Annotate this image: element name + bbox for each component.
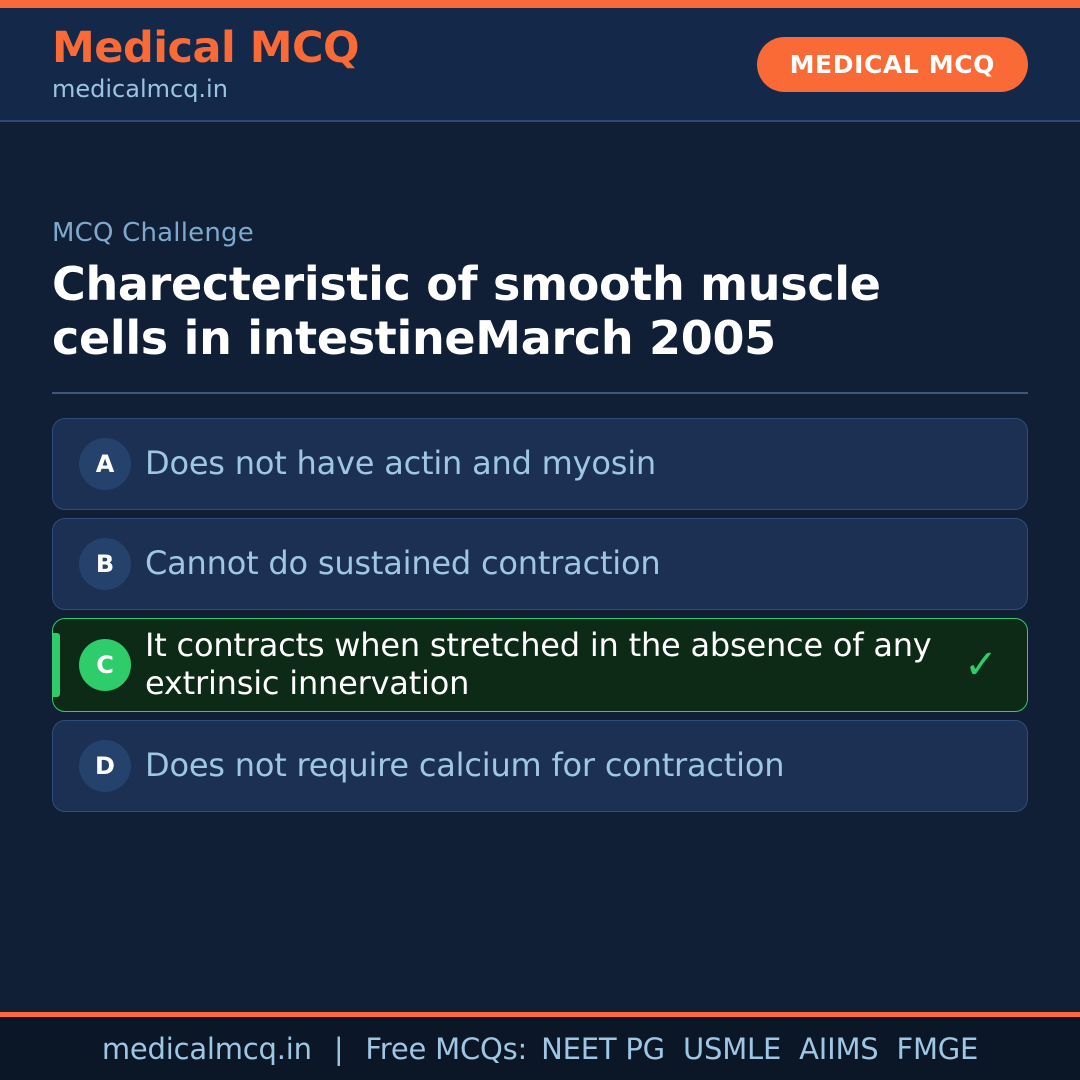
content-inner: MCQ Challenge Charecteristic of smooth m…: [52, 218, 1028, 811]
footer-bar: medicalmcq.in | Free MCQs: NEET PG USMLE…: [0, 1017, 1080, 1080]
footer-site[interactable]: medicalmcq.in: [102, 1032, 312, 1066]
correct-accent-bar: [53, 633, 60, 697]
option-row-c[interactable]: C It contracts when stretched in the abs…: [52, 618, 1028, 712]
option-row-a[interactable]: A Does not have actin and myosin: [52, 418, 1028, 510]
header-badge[interactable]: MEDICAL MCQ: [757, 37, 1028, 92]
question-title: Charecteristic of smooth muscle cells in…: [52, 258, 1012, 365]
footer-exam-neet-pg[interactable]: NEET PG: [541, 1032, 665, 1066]
kicker-label: MCQ Challenge: [52, 218, 1028, 248]
option-row-d[interactable]: D Does not require calcium for contracti…: [52, 720, 1028, 812]
footer-exam-list: NEET PG USMLE AIIMS FMGE: [541, 1032, 978, 1066]
brand-block: Medical MCQ medicalmcq.in: [52, 27, 359, 101]
check-icon: ✓: [959, 645, 1003, 685]
option-letter-badge: B: [79, 538, 131, 590]
options-list: A Does not have actin and myosin B Canno…: [52, 418, 1028, 812]
brand-subtitle: medicalmcq.in: [52, 77, 359, 101]
mcq-card: Medical MCQ medicalmcq.in MEDICAL MCQ MC…: [0, 0, 1080, 1080]
option-text: It contracts when stretched in the absen…: [145, 627, 959, 703]
header-bar: Medical MCQ medicalmcq.in MEDICAL MCQ: [0, 8, 1080, 122]
footer-exam-aiims[interactable]: AIIMS: [799, 1032, 878, 1066]
footer-exam-fmge[interactable]: FMGE: [896, 1032, 978, 1066]
title-divider: [52, 392, 1028, 394]
main-content: MCQ Challenge Charecteristic of smooth m…: [0, 122, 1080, 1012]
option-letter-badge: C: [79, 639, 131, 691]
footer-label: Free MCQs:: [365, 1032, 527, 1066]
option-text: Does not require calcium for contraction: [145, 747, 959, 785]
footer-separator: |: [326, 1032, 352, 1066]
option-letter-badge: D: [79, 740, 131, 792]
brand-title: Medical MCQ: [52, 27, 359, 70]
option-letter-badge: A: [79, 438, 131, 490]
option-text: Does not have actin and myosin: [145, 445, 959, 483]
option-text: Cannot do sustained contraction: [145, 545, 959, 583]
option-row-b[interactable]: B Cannot do sustained contraction: [52, 518, 1028, 610]
footer-exam-usmle[interactable]: USMLE: [683, 1032, 781, 1066]
top-accent-stripe: [0, 0, 1080, 8]
